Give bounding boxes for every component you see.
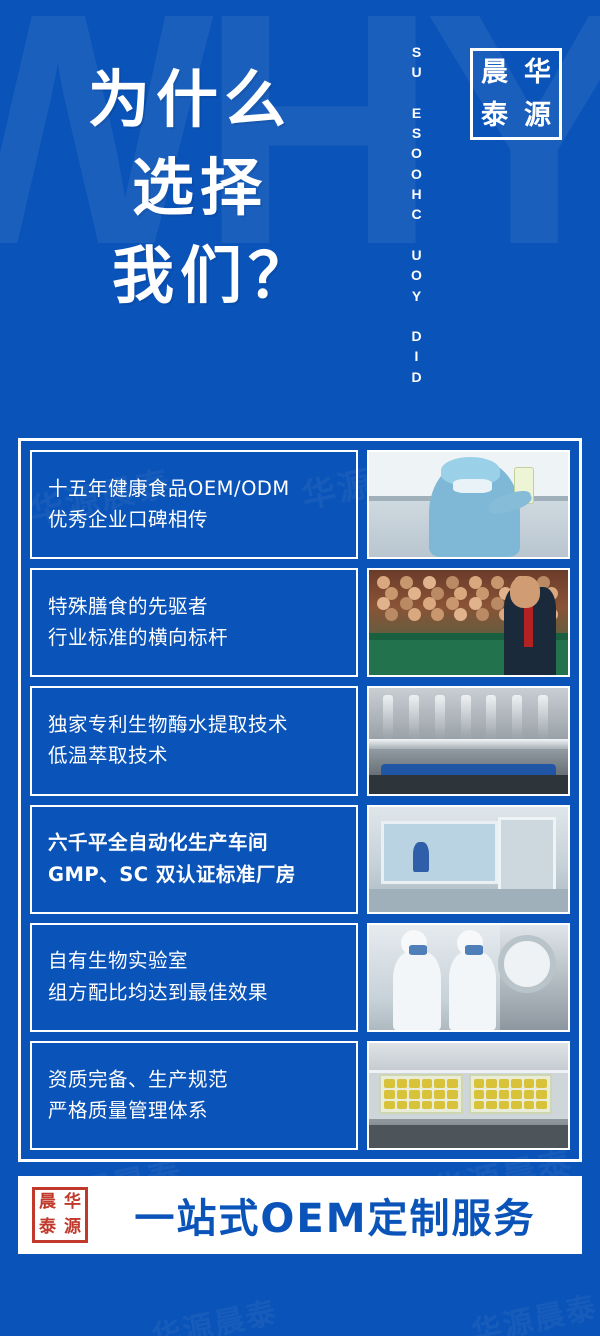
feature-text-block: 十五年健康食品OEM/ODM 优秀企业口碑相传 [30,450,358,559]
headline-line-1: 为什么 [88,56,388,144]
feature-line-2: 优秀企业口碑相传 [48,508,340,532]
photo-art [369,570,568,675]
feature-line-1: 独家专利生物酶水提取技术 [48,713,340,737]
footer-seal-char-1: 晨 [39,1194,56,1211]
feature-row: 六千平全自动化生产车间 GMP、SC 双认证标准厂房 [30,805,570,914]
vertical-english-caption: SU ESOOHC UOY DID [404,42,430,387]
footer-seal-char-4: 源 [64,1219,81,1236]
photo-art [369,452,568,557]
feature-row: 资质完备、生产规范 严格质量管理体系 [30,1041,570,1150]
seal-char-3: 泰 [481,102,508,129]
feature-photo-clean-room-corridor [367,805,570,914]
feature-line-1: 资质完备、生产规范 [48,1068,340,1092]
feature-row: 十五年健康食品OEM/ODM 优秀企业口碑相传 [30,450,570,559]
features-panel: 十五年健康食品OEM/ODM 优秀企业口碑相传 特殊膳食的先驱者 行业标准的横向… [18,438,582,1162]
feature-photo-conference-audience [367,568,570,677]
brand-seal-icon: 晨 华 泰 源 [470,48,562,140]
feature-line-1: 十五年健康食品OEM/ODM [48,477,340,501]
feature-row: 特殊膳食的先驱者 行业标准的横向标杆 [30,568,570,677]
feature-photo-lab-technician-inspecting-bottle [367,450,570,559]
headline-line-2: 选择 [88,144,388,232]
photo-art [369,1043,568,1148]
feature-row: 独家专利生物酶水提取技术 低温萃取技术 [30,686,570,795]
feature-line-2: GMP、SC 双认证标准厂房 [48,863,340,887]
feature-row: 自有生物实验室 组方配比均达到最佳效果 [30,923,570,1032]
feature-text-block: 独家专利生物酶水提取技术 低温萃取技术 [30,686,358,795]
feature-line-2: 行业标准的横向标杆 [48,626,340,650]
feature-photo-blister-packing-line [367,1041,570,1150]
feature-line-2: 组方配比均达到最佳效果 [48,981,340,1005]
feature-line-1: 特殊膳食的先驱者 [48,595,340,619]
seal-watermark: 华源晨泰 [467,1282,600,1336]
footer-seal-char-3: 泰 [39,1219,56,1236]
header: 为什么 选择 我们？ SU ESOOHC UOY DID 晨 华 泰 源 [0,0,600,430]
features-list: 十五年健康食品OEM/ODM 优秀企业口碑相传 特殊膳食的先驱者 行业标准的横向… [30,450,570,1150]
footer-slogan: 一站式OEM定制服务 [102,1186,568,1244]
footer-seal-icon: 晨 华 泰 源 [32,1187,88,1243]
page-title: 为什么 选择 我们？ [88,56,388,320]
photo-art [369,925,568,1030]
seal-char-4: 源 [524,102,551,129]
seal-watermark: 华源晨泰 [147,1287,281,1336]
feature-line-2: 低温萃取技术 [48,744,340,768]
photo-art [369,688,568,793]
footer-seal-char-2: 华 [64,1194,81,1211]
feature-line-1: 自有生物实验室 [48,949,340,973]
seal-char-2: 华 [524,59,551,86]
feature-text-block: 自有生物实验室 组方配比均达到最佳效果 [30,923,358,1032]
footer-banner: 晨 华 泰 源 一站式OEM定制服务 [18,1176,582,1254]
seal-char-1: 晨 [481,59,508,86]
feature-text-block: 特殊膳食的先驱者 行业标准的横向标杆 [30,568,358,677]
photo-art [369,807,568,912]
feature-text-block: 资质完备、生产规范 严格质量管理体系 [30,1041,358,1150]
feature-photo-filling-machine-nozzles [367,686,570,795]
headline-line-3: 我们？ [88,232,388,320]
feature-photo-two-lab-workers [367,923,570,1032]
feature-line-1: 六千平全自动化生产车间 [48,831,340,855]
feature-line-2: 严格质量管理体系 [48,1099,340,1123]
feature-text-block: 六千平全自动化生产车间 GMP、SC 双认证标准厂房 [30,805,358,914]
